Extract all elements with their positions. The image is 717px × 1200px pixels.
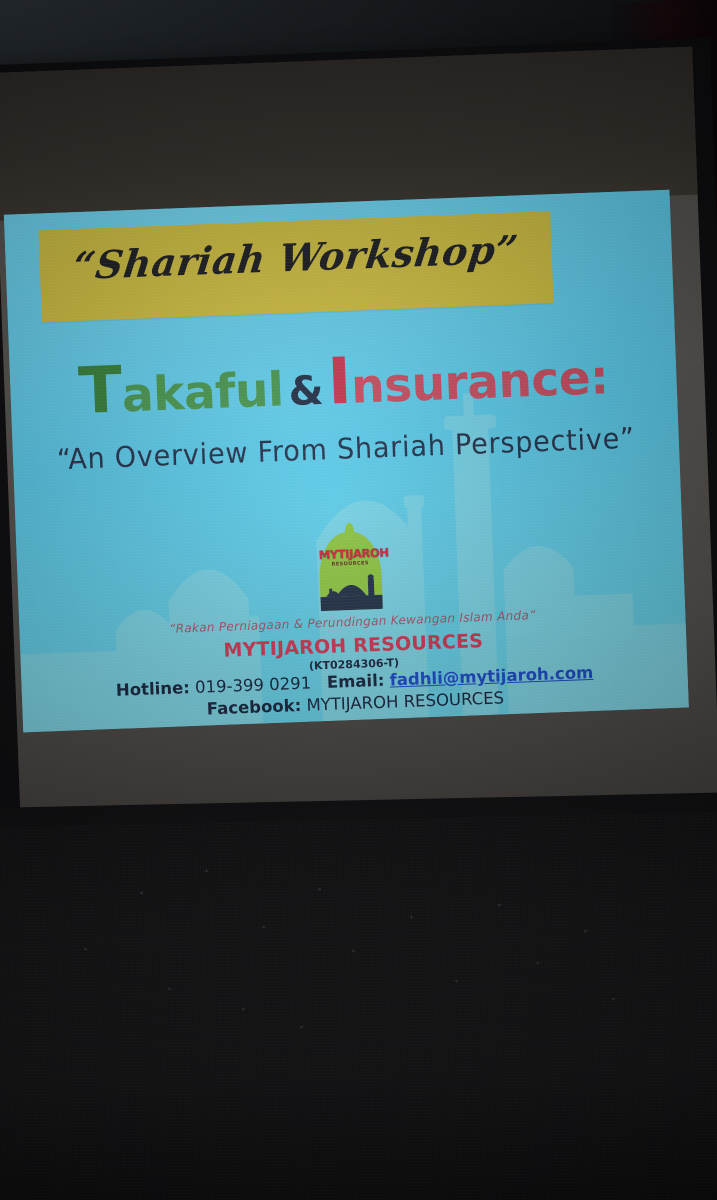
presentation-slide: “Shariah Workshop” Takaful&Insurance: “A… — [4, 190, 689, 733]
projection-screen: “Shariah Workshop” Takaful&Insurance: “A… — [0, 38, 717, 875]
title-ampersand: & — [283, 368, 329, 416]
title-banner: “Shariah Workshop” — [38, 211, 553, 322]
email-label: Email: — [327, 671, 385, 692]
title-letter-t: T — [77, 353, 123, 429]
facebook-label: Facebook: — [206, 696, 301, 719]
banner-title-text: “Shariah Workshop” — [37, 225, 554, 289]
title-word-takaful: akaful — [121, 362, 285, 423]
hotline-label: Hotline: — [116, 678, 191, 700]
mytijaroh-logo: MYTIJAROH RESOURCES — [318, 531, 383, 611]
logo-mosque-silhouette-icon — [320, 573, 383, 611]
title-word-insurance: nsurance: — [350, 350, 609, 415]
room-floor — [0, 791, 717, 1200]
title-letter-i: I — [326, 345, 352, 420]
photo-scene: “Shariah Workshop” Takaful&Insurance: “A… — [0, 0, 717, 1200]
floor-carpet-texture — [0, 811, 717, 1200]
